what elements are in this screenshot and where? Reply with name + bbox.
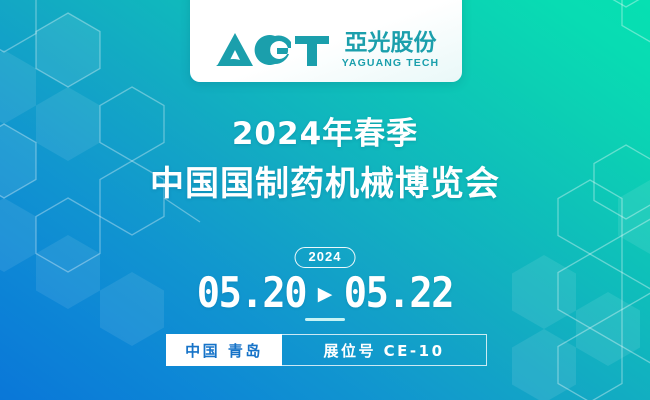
date-range: 05.20 ▶ 05.22 — [0, 272, 650, 314]
logo-wordmark: 亞光股份 YAGUANG TECH — [342, 32, 439, 69]
logo-inner: 亞光股份 YAGUANG TECH — [213, 30, 439, 70]
booth-number-label: 展位号 CE-10 — [282, 334, 487, 366]
date-start: 05.20 — [197, 272, 306, 314]
date-end: 05.22 — [344, 272, 453, 314]
agt-logo-mark — [213, 30, 333, 70]
arrow-right-icon: ▶ — [318, 285, 333, 304]
logo-english-name: YAGUANG TECH — [342, 58, 439, 69]
location-label: 中国 青岛 — [166, 334, 282, 366]
info-bar: 中国 青岛 展位号 CE-10 — [166, 334, 487, 366]
headline-event-name: 中国国制药机械博览会 — [0, 165, 650, 204]
divider-line — [305, 318, 345, 321]
exhibition-banner: 亞光股份 YAGUANG TECH 2024年春季 中国国制药机械博览会 202… — [0, 0, 650, 400]
company-logo-card: 亞光股份 YAGUANG TECH — [190, 0, 462, 82]
headline-season: 2024年春季 — [0, 117, 650, 153]
year-badge: 2024 — [295, 247, 356, 268]
headline-block: 2024年春季 中国国制药机械博览会 — [0, 117, 650, 204]
logo-chinese-name: 亞光股份 — [345, 32, 437, 55]
